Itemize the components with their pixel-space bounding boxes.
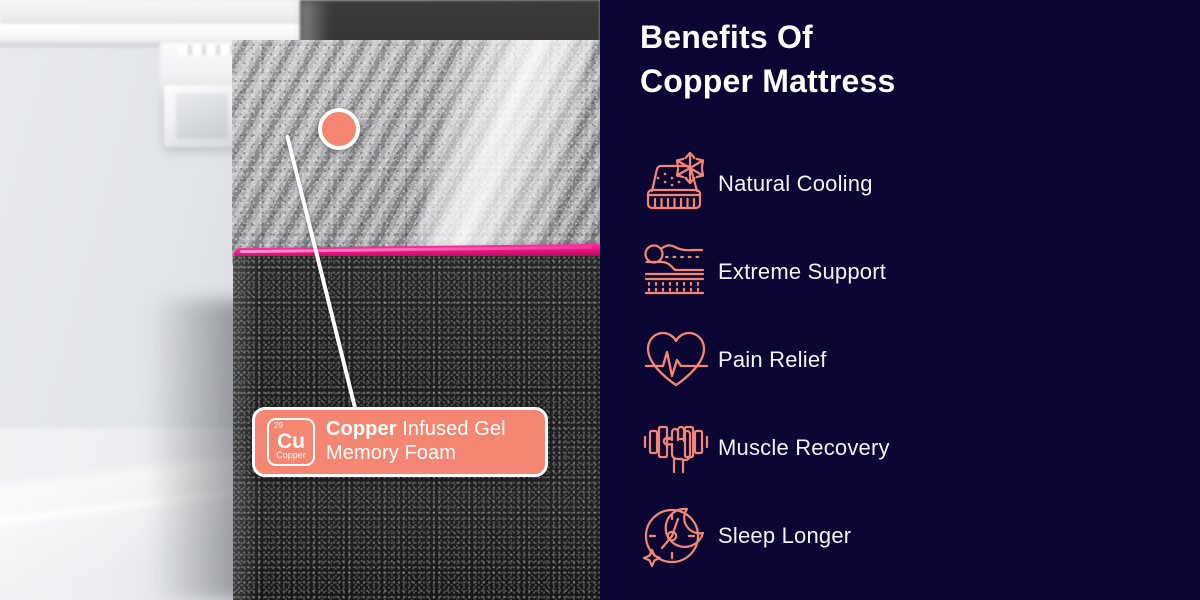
- infographic-canvas: 29 Cu Copper Copper Infused Gel Memory F…: [0, 0, 1200, 600]
- title-line-2: Copper Mattress: [640, 59, 896, 103]
- hand-dumbbell-icon: [634, 418, 718, 478]
- element-symbol-label: Cu: [269, 431, 313, 452]
- list-item[interactable]: Extreme Support: [634, 228, 1174, 316]
- copper-element-badge: 29 Cu Copper: [267, 418, 315, 466]
- callout-line2: Memory Foam: [326, 442, 456, 464]
- callout-text: Copper Infused Gel Memory Foam: [326, 418, 506, 465]
- heart-heartbeat-icon: [634, 328, 718, 392]
- clock-moon-icon: [634, 503, 718, 569]
- benefits-list: Natural Cooling Extreme Su: [634, 140, 1174, 580]
- wall-fixture-slots: [178, 45, 236, 55]
- callout-rest-line1: Infused Gel: [397, 418, 506, 440]
- mattress-photo: 29 Cu Copper Copper Infused Gel Memory F…: [0, 0, 600, 600]
- mattress-snowflake-icon: [634, 151, 718, 217]
- callout-pointer-dot[interactable]: [318, 108, 360, 150]
- person-lying-mattress-icon: [634, 241, 718, 303]
- benefit-label: Pain Relief: [718, 347, 827, 373]
- list-item[interactable]: Sleep Longer: [634, 492, 1174, 580]
- quilted-mattress-top: [232, 40, 600, 265]
- callout-bold-word: Copper: [326, 418, 397, 440]
- benefit-label: Muscle Recovery: [718, 435, 890, 461]
- title-line-1: Benefits Of: [640, 15, 896, 59]
- element-name-label: Copper: [269, 451, 313, 460]
- wall-switch-plate: [176, 93, 228, 139]
- list-item[interactable]: Pain Relief: [634, 316, 1174, 404]
- page-title: Benefits Of Copper Mattress: [640, 15, 896, 103]
- benefits-panel: Benefits Of Copper Mattress: [600, 0, 1200, 600]
- copper-foam-callout[interactable]: 29 Cu Copper Copper Infused Gel Memory F…: [252, 407, 548, 477]
- benefit-label: Extreme Support: [718, 259, 886, 285]
- benefit-label: Sleep Longer: [718, 523, 851, 549]
- list-item[interactable]: Muscle Recovery: [634, 404, 1174, 492]
- benefit-label: Natural Cooling: [718, 171, 873, 197]
- list-item[interactable]: Natural Cooling: [634, 140, 1174, 228]
- atomic-number-label: 29: [274, 422, 283, 430]
